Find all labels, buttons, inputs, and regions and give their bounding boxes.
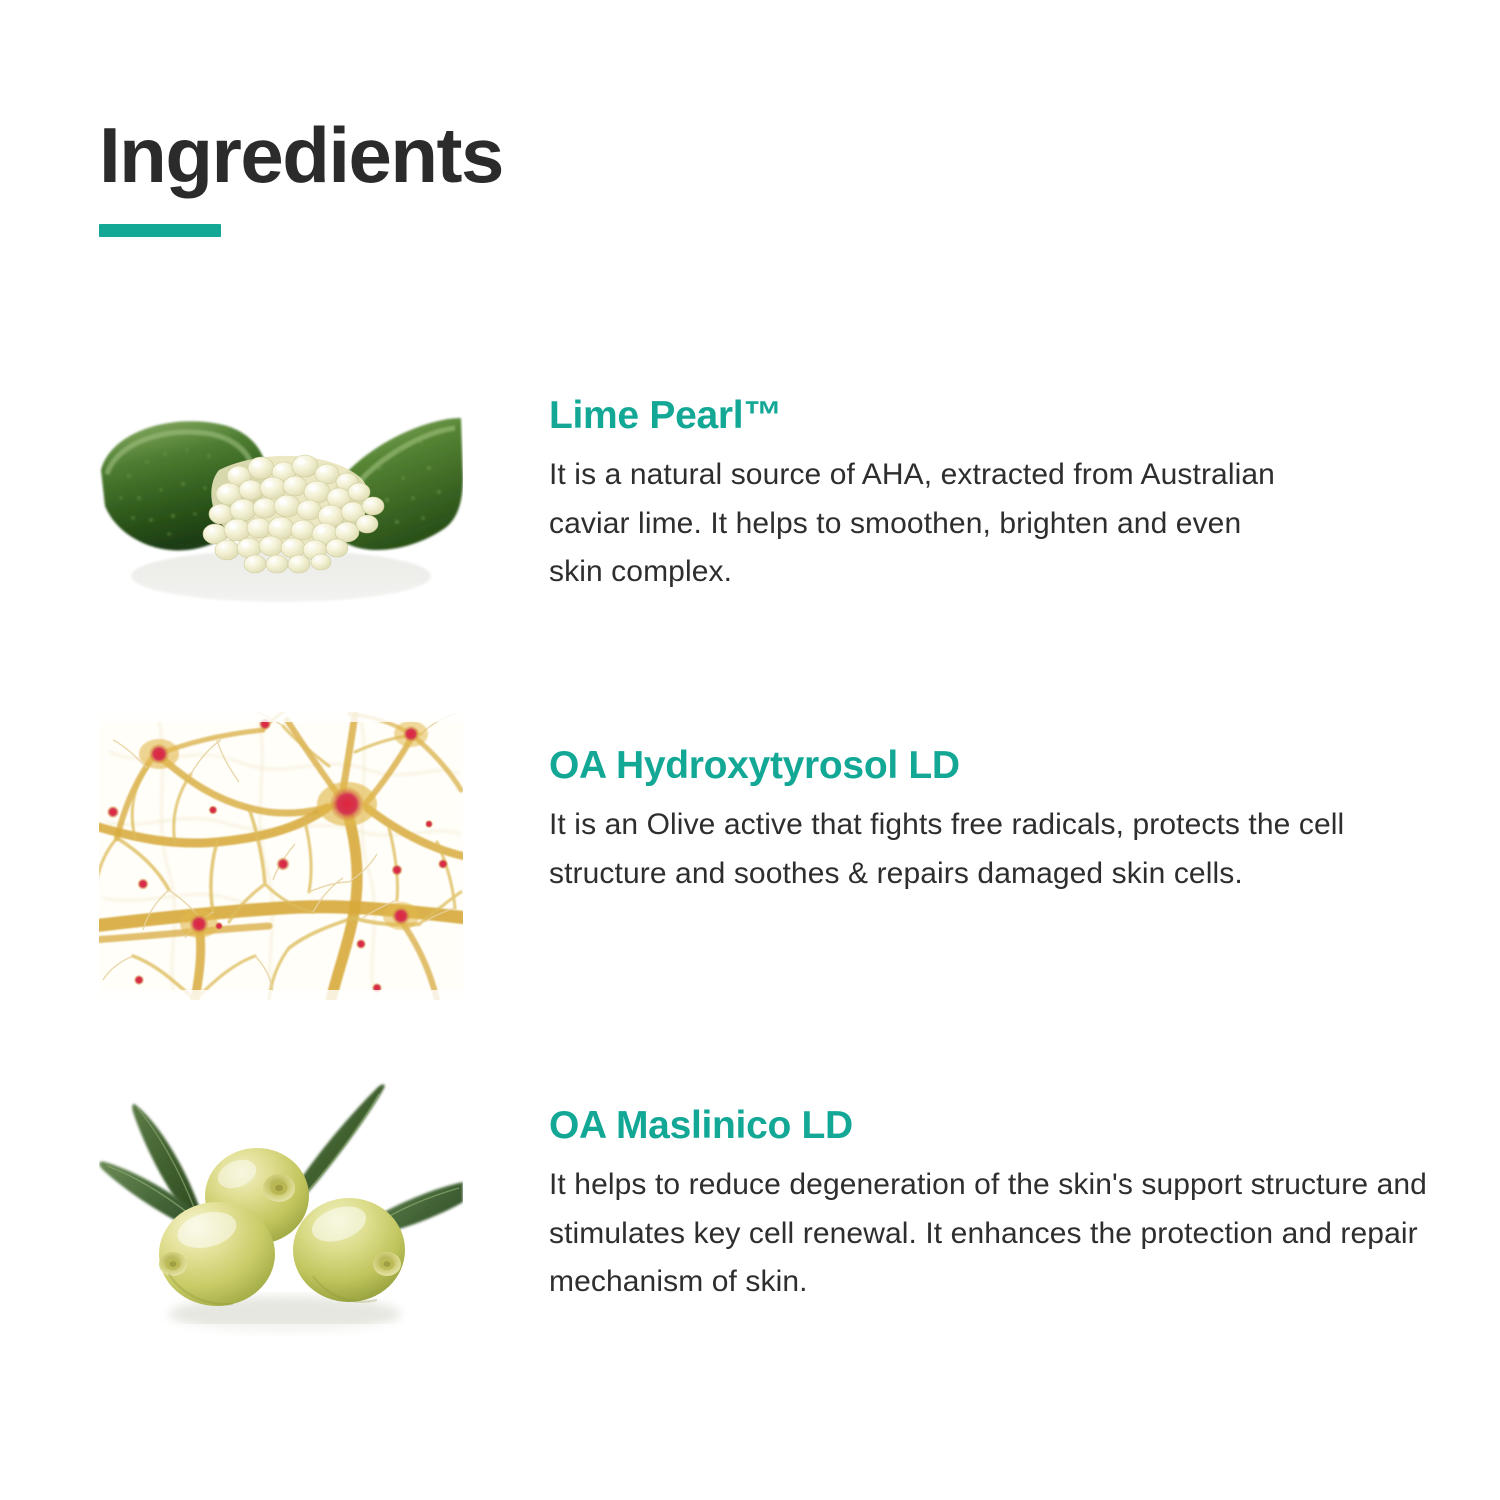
ingredients-page: Ingredients	[0, 0, 1500, 1500]
ingredient-description: It is a natural source of AHA, extracted…	[549, 451, 1279, 597]
ingredient-description: It is an Olive active that fights free r…	[549, 801, 1369, 898]
list-item: OA Hydroxytyrosol LD It is an Olive acti…	[99, 712, 1429, 1000]
neuron-network-illustration	[99, 712, 463, 1000]
green-olives-illustration	[99, 1078, 463, 1366]
ingredient-name: Lime Pearl™	[549, 396, 1429, 437]
ingredient-description: It helps to reduce degeneration of the s…	[549, 1161, 1429, 1307]
ingredient-copy: OA Hydroxytyrosol LD It is an Olive acti…	[463, 712, 1429, 898]
page-header: Ingredients	[99, 116, 1099, 237]
ingredient-copy: OA Maslinico LD It helps to reduce degen…	[463, 1078, 1429, 1307]
page-title: Ingredients	[99, 116, 1099, 194]
list-item: Lime Pearl™ It is a natural source of AH…	[99, 358, 1429, 646]
ingredient-image-hydroxytyrosol	[99, 712, 463, 1000]
ingredient-name: OA Maslinico LD	[549, 1106, 1429, 1147]
ingredient-name: OA Hydroxytyrosol LD	[549, 746, 1429, 787]
list-item: OA Maslinico LD It helps to reduce degen…	[99, 1078, 1429, 1366]
caviar-lime-illustration	[99, 358, 463, 646]
ingredient-image-maslinico	[99, 1078, 463, 1366]
ingredient-copy: Lime Pearl™ It is a natural source of AH…	[463, 358, 1429, 597]
title-accent-rule	[99, 224, 221, 237]
ingredient-image-lime-pearl	[99, 358, 463, 646]
